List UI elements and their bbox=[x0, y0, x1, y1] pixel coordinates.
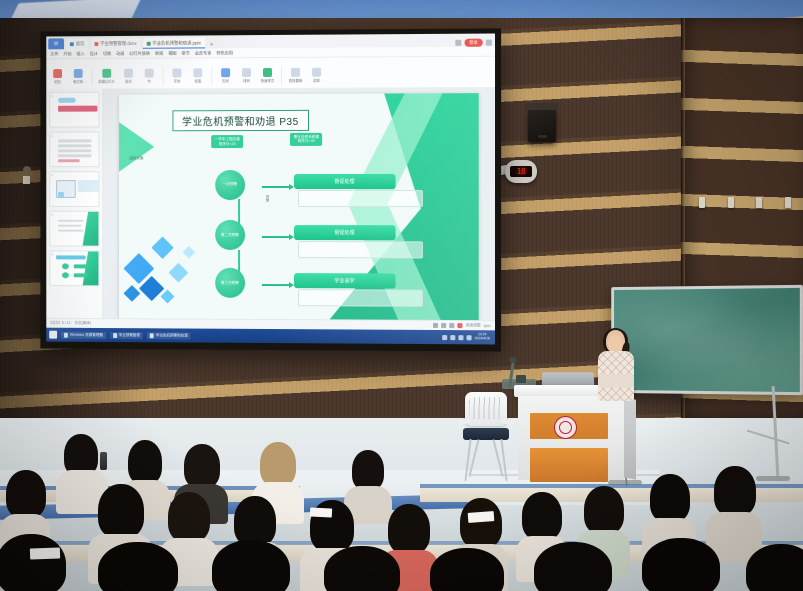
ribbon-label: 排列 bbox=[243, 78, 250, 83]
app-tab-2[interactable]: 学业危机预警和劝退.pptx bbox=[142, 37, 204, 48]
student bbox=[318, 546, 410, 591]
ribbon-button-6[interactable]: 段落 bbox=[190, 68, 205, 83]
arrange-icon bbox=[242, 68, 251, 77]
flow-node-circle-2: 第三次预警 bbox=[215, 268, 245, 298]
led-clock: 18 bbox=[505, 160, 537, 183]
hook-icon bbox=[699, 197, 705, 208]
ribbon-button-8[interactable]: 排列 bbox=[239, 68, 254, 83]
menu-item-9[interactable]: 章节 bbox=[181, 50, 189, 56]
thumbnail-number: 1 bbox=[51, 94, 53, 98]
student bbox=[636, 538, 728, 591]
student bbox=[206, 540, 300, 591]
chevron-up-icon[interactable] bbox=[442, 335, 447, 340]
taskbar-item-2[interactable]: 学业危机预警和劝退 bbox=[147, 332, 191, 339]
settings-icon[interactable] bbox=[486, 40, 492, 46]
sorter-view-icon[interactable] bbox=[442, 323, 447, 328]
flow-node-circle-1: 第二次预警 bbox=[215, 220, 245, 250]
hook-icon bbox=[728, 197, 734, 208]
menu-item-3[interactable]: 设计 bbox=[90, 51, 98, 57]
menu-item-4[interactable]: 切换 bbox=[103, 50, 111, 56]
ribbon-divider bbox=[211, 67, 212, 85]
student bbox=[92, 542, 188, 591]
lecture-hall-photo: 18 W 首页 学业预警管理.docx 学业危机预警和劝退.pptx + bbox=[0, 0, 803, 591]
flow-side-label: 预警 bbox=[265, 195, 270, 202]
status-right-group: 阅读视图 68% bbox=[433, 323, 490, 328]
ribbon-button-10[interactable]: 查找替换 bbox=[288, 68, 303, 83]
wall-hooks bbox=[699, 196, 791, 208]
wps-logo-icon: W bbox=[48, 38, 64, 49]
tab-dot-icon bbox=[94, 42, 98, 46]
app-body: 1 2 3 bbox=[46, 87, 495, 330]
slide-tag-1: 累计应修未修课程学分<30 bbox=[290, 133, 322, 146]
flow-result-box-2: 学业退学 bbox=[294, 273, 395, 288]
menu-item-1[interactable]: 开始 bbox=[63, 51, 71, 57]
document-icon bbox=[113, 333, 117, 338]
presentation-icon bbox=[150, 333, 154, 338]
account-pill[interactable]: 登录 bbox=[464, 39, 483, 47]
system-tray: 10:24 2024/4/18 bbox=[442, 333, 492, 341]
select-icon bbox=[312, 68, 321, 77]
ribbon-label: 查找替换 bbox=[289, 78, 303, 83]
ribbon-button-2[interactable]: 新建幻灯片 bbox=[98, 69, 115, 84]
shapes-icon bbox=[221, 68, 230, 77]
taskbar-item-0[interactable]: Windows 资源管理器 bbox=[61, 331, 106, 338]
ribbon-button-3[interactable]: 版式 bbox=[121, 69, 136, 84]
flow-result-box-0: 督促处理 bbox=[294, 174, 395, 189]
app-tab-label: 学业危机预警和劝退.pptx bbox=[152, 40, 201, 46]
flow-ghost-box-0 bbox=[298, 190, 423, 207]
ribbon-label: 新建幻灯片 bbox=[98, 79, 115, 84]
water-bottle bbox=[100, 452, 107, 470]
thumbnail-number: 2 bbox=[51, 134, 53, 138]
grid-icon[interactable] bbox=[455, 40, 461, 46]
reading-view-icon[interactable] bbox=[450, 323, 455, 328]
presenter-face bbox=[608, 335, 623, 352]
app-tab-0[interactable]: 首页 bbox=[66, 38, 88, 49]
paper-sheet bbox=[30, 547, 60, 559]
menu-item-6[interactable]: 幻灯片放映 bbox=[129, 50, 150, 56]
section-icon bbox=[145, 69, 154, 78]
audience bbox=[0, 430, 803, 591]
paragraph-icon bbox=[193, 68, 202, 77]
windows-taskbar: Windows 资源管理器 学业预警管理 学业危机预警和劝退 10:24 bbox=[46, 328, 495, 345]
flow-node-circle-0: 一次预警 bbox=[215, 170, 245, 200]
menu-item-0[interactable]: 文件 bbox=[50, 51, 58, 57]
paste-icon bbox=[53, 69, 62, 78]
student bbox=[424, 548, 512, 591]
slide-title: 学业危机预警和劝退 P35 bbox=[172, 110, 309, 131]
ribbon-label: 形状 bbox=[222, 78, 229, 83]
normal-view-icon[interactable] bbox=[433, 323, 438, 328]
ribbon-divider bbox=[281, 66, 282, 84]
ribbon-label: 格式刷 bbox=[73, 79, 83, 84]
taskbar-item-label: 学业预警管理 bbox=[119, 333, 140, 338]
student bbox=[706, 466, 762, 548]
ribbon-divider bbox=[163, 67, 164, 85]
thumbnail-item[interactable]: 4 bbox=[49, 211, 99, 247]
chair-back-slits bbox=[469, 397, 503, 419]
find-replace-icon bbox=[291, 68, 300, 77]
status-zoom[interactable]: 68% bbox=[484, 324, 491, 328]
app-tab-1[interactable]: 学业预警管理.docx bbox=[90, 38, 140, 49]
slide-bullet: 适用对象 bbox=[129, 156, 143, 161]
menu-item-8[interactable]: 视图 bbox=[168, 50, 176, 56]
thumbnail-item[interactable]: 2 bbox=[49, 131, 99, 167]
layout-icon bbox=[124, 69, 133, 78]
hook-icon bbox=[756, 197, 762, 208]
thumbnail-number: 3 bbox=[51, 173, 53, 177]
hook-icon bbox=[785, 197, 791, 208]
ribbon-divider bbox=[91, 67, 92, 85]
format-painter-icon bbox=[74, 69, 83, 78]
thumbnail-item[interactable]: 5 bbox=[49, 250, 99, 286]
ribbon-button-1[interactable]: 格式刷 bbox=[71, 69, 86, 84]
taskbar-item-1[interactable]: 学业预警管理 bbox=[110, 332, 143, 339]
projection-screen-frame: W 首页 学业预警管理.docx 学业危机预警和劝退.pptx + 登录 bbox=[40, 28, 501, 351]
slideshow-icon[interactable] bbox=[458, 323, 463, 328]
thumbnail-number: 5 bbox=[51, 252, 53, 256]
status-view: 阅读视图 bbox=[466, 323, 481, 328]
thumbnail-item[interactable]: 1 bbox=[49, 92, 99, 128]
ribbon-label: 粘贴 bbox=[54, 79, 61, 84]
app-tab-label: 学业预警管理.docx bbox=[100, 40, 136, 46]
taskbar-item-label: 学业危机预警和劝退 bbox=[156, 333, 188, 338]
explorer-icon bbox=[64, 332, 68, 337]
slide-editing-area[interactable]: 学业危机预警和劝退 P35 适用对象 一学年工程应课程学分<20 累计应修未修课… bbox=[103, 87, 495, 330]
slide-thumbnail-pane[interactable]: 1 2 3 bbox=[46, 89, 103, 328]
tab-dot-icon bbox=[70, 42, 74, 46]
ribbon-label: 字体 bbox=[174, 78, 181, 83]
new-slide-icon bbox=[102, 69, 111, 78]
status-language: 中文(简体) bbox=[75, 321, 92, 326]
student bbox=[528, 542, 620, 591]
thumbnail-number: 4 bbox=[51, 213, 53, 217]
quick-style-icon bbox=[263, 68, 272, 77]
wall-speaker bbox=[528, 108, 556, 142]
menu-item-5[interactable]: 动画 bbox=[116, 50, 124, 56]
ribbon-button-7[interactable]: 形状 bbox=[218, 68, 233, 83]
flow-ghost-box-2 bbox=[298, 289, 423, 307]
ribbon-label: 选择 bbox=[313, 78, 320, 83]
ribbon-button-11[interactable]: 选择 bbox=[309, 68, 324, 83]
font-icon bbox=[172, 68, 181, 77]
projection-screen[interactable]: W 首页 学业预警管理.docx 学业危机预警和劝退.pptx + 登录 bbox=[46, 34, 495, 345]
flow-arrow-1 bbox=[262, 236, 291, 238]
taskbar-item-label: Windows 资源管理器 bbox=[70, 332, 103, 337]
menu-item-11[interactable]: 特色应用 bbox=[216, 50, 233, 56]
app-tab-label: 首页 bbox=[76, 41, 85, 47]
app-tab-right-group: 登录 bbox=[455, 39, 495, 47]
podium-control-box bbox=[516, 375, 526, 383]
ribbon-button-0[interactable]: 粘贴 bbox=[50, 69, 65, 84]
ime-icon[interactable] bbox=[466, 335, 471, 340]
slide-decor-left-wedge bbox=[119, 122, 155, 172]
ribbon-label: 段落 bbox=[194, 78, 201, 83]
menu-item-7[interactable]: 审阅 bbox=[155, 50, 163, 56]
new-tab-button[interactable]: + bbox=[207, 42, 216, 48]
menu-item-10[interactable]: 会员专享 bbox=[195, 50, 212, 56]
status-slide-count: 幻灯片 5 / 12 bbox=[50, 321, 70, 326]
ribbon-button-4[interactable]: 节 bbox=[142, 69, 157, 84]
paper-sheet bbox=[468, 511, 495, 523]
presenter-arms bbox=[598, 374, 634, 388]
clock-date: 2024/4/18 bbox=[475, 336, 490, 340]
flow-result-box-1: 督促处理 bbox=[294, 225, 395, 240]
network-icon[interactable] bbox=[450, 335, 455, 340]
ribbon-button-5[interactable]: 字体 bbox=[169, 68, 184, 83]
thumbnail-item[interactable]: 3 bbox=[49, 171, 99, 207]
tab-dot-icon bbox=[146, 41, 150, 45]
ribbon-label: 快速样式 bbox=[261, 78, 275, 83]
current-slide[interactable]: 学业危机预警和劝退 P35 适用对象 一学年工程应课程学分<20 累计应修未修课… bbox=[119, 93, 479, 324]
ribbon-button-9[interactable]: 快速样式 bbox=[260, 68, 275, 83]
taskbar-clock[interactable]: 10:24 2024/4/18 bbox=[475, 334, 490, 342]
led-clock-value: 18 bbox=[510, 166, 532, 177]
wall-fixture bbox=[23, 166, 31, 186]
paper-sheet bbox=[310, 507, 332, 517]
ribbon-label: 节 bbox=[147, 79, 150, 84]
student bbox=[740, 544, 803, 591]
ribbon-label: 版式 bbox=[125, 79, 132, 84]
slide-tag-0: 一学年工程应课程学分<20 bbox=[211, 135, 243, 148]
flow-arrow-2 bbox=[262, 284, 291, 286]
student bbox=[0, 534, 76, 591]
presenter bbox=[592, 330, 642, 402]
start-button-icon[interactable] bbox=[49, 331, 57, 339]
flow-ghost-box-1 bbox=[298, 241, 423, 258]
menu-item-2[interactable]: 插入 bbox=[77, 51, 85, 57]
volume-icon[interactable] bbox=[458, 335, 463, 340]
flow-arrow-0 bbox=[262, 186, 291, 188]
